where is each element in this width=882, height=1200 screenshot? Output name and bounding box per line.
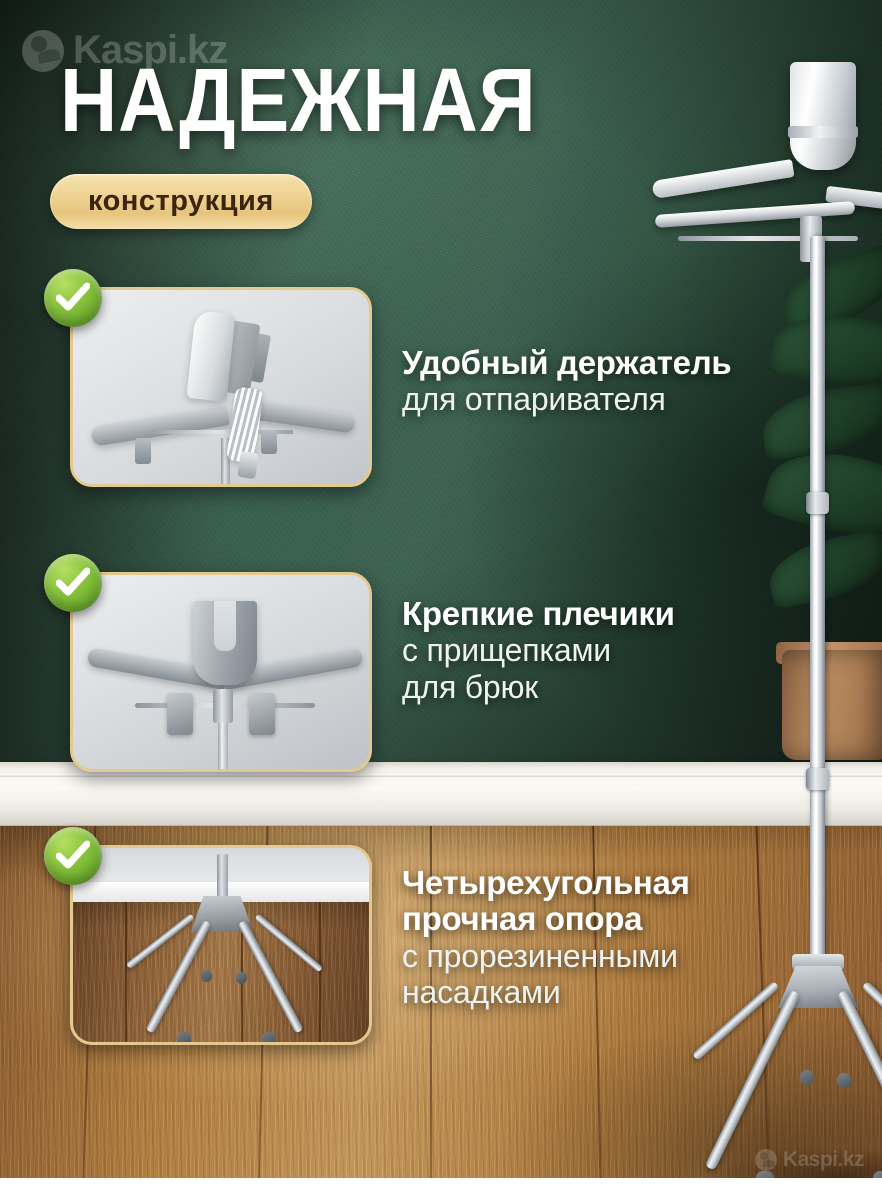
rubber-foot <box>177 1032 191 1045</box>
pole <box>217 854 228 900</box>
hanger-arm-left <box>651 159 794 199</box>
u-holder-slot <box>214 601 236 651</box>
check-circle-icon <box>44 554 102 612</box>
steamer-u-holder <box>790 62 856 170</box>
page-title: НАДЕЖНАЯ <box>60 60 537 143</box>
feature-title: Крепкие плечики <box>402 596 872 632</box>
feature-subtitle: для отпаривателя <box>402 381 872 417</box>
check-circle-icon <box>44 827 102 885</box>
feature-subtitle-line-1: с прищепками <box>402 632 872 668</box>
trouser-clip <box>135 438 151 464</box>
trouser-clip <box>249 693 275 735</box>
rubber-foot <box>837 1073 851 1088</box>
feature-text: Четырехугольная прочная опора с прорезин… <box>402 865 872 1011</box>
pole-collar <box>806 492 829 514</box>
pole-collar <box>806 768 829 790</box>
plank-seam <box>319 902 321 1045</box>
hanger-center-block <box>213 689 233 723</box>
tripod-base-photo <box>73 848 369 1042</box>
trouser-clip <box>261 430 277 454</box>
steamer-holder-photo <box>73 290 369 484</box>
rubber-foot <box>236 972 247 984</box>
feature-subtitle-line-1: с прорезиненными <box>402 938 872 974</box>
trouser-clip <box>167 693 193 735</box>
hanger-with-clips-photo <box>73 575 369 769</box>
feature-subtitle-line-2: для брюк <box>402 669 872 705</box>
badge-label: конструкция <box>88 185 274 218</box>
u-holder-band <box>788 126 858 138</box>
pole <box>218 723 228 772</box>
feature-subtitle-line-2: насадками <box>402 974 872 1010</box>
product-banner: Kaspi.kz НАДЕЖНАЯ конструкция <box>0 0 882 1200</box>
steamer-tip <box>237 451 258 479</box>
feature-image-card[interactable] <box>70 845 372 1045</box>
plank-seam <box>125 902 127 1045</box>
status-badge: конструкция <box>50 174 312 229</box>
feature-image-card[interactable] <box>70 572 372 772</box>
feature-title-line-2: прочная опора <box>402 901 872 937</box>
feature-image-card[interactable] <box>70 287 372 487</box>
rubber-foot <box>262 1032 276 1045</box>
feature-text: Удобный держатель для отпаривателя <box>402 345 872 418</box>
check-circle-icon <box>44 269 102 327</box>
feature-text: Крепкие плечики с прищепками для брюк <box>402 596 872 705</box>
rubber-foot <box>800 1070 814 1085</box>
hanger-crossbar <box>655 201 855 228</box>
feature-title-line-1: Четырехугольная <box>402 865 872 901</box>
trouser-clip-rod <box>678 236 858 241</box>
bottom-white-strip <box>0 1178 882 1200</box>
rubber-foot <box>201 970 212 982</box>
feature-title: Удобный держатель <box>402 345 872 381</box>
tripod-leg <box>705 990 801 1171</box>
